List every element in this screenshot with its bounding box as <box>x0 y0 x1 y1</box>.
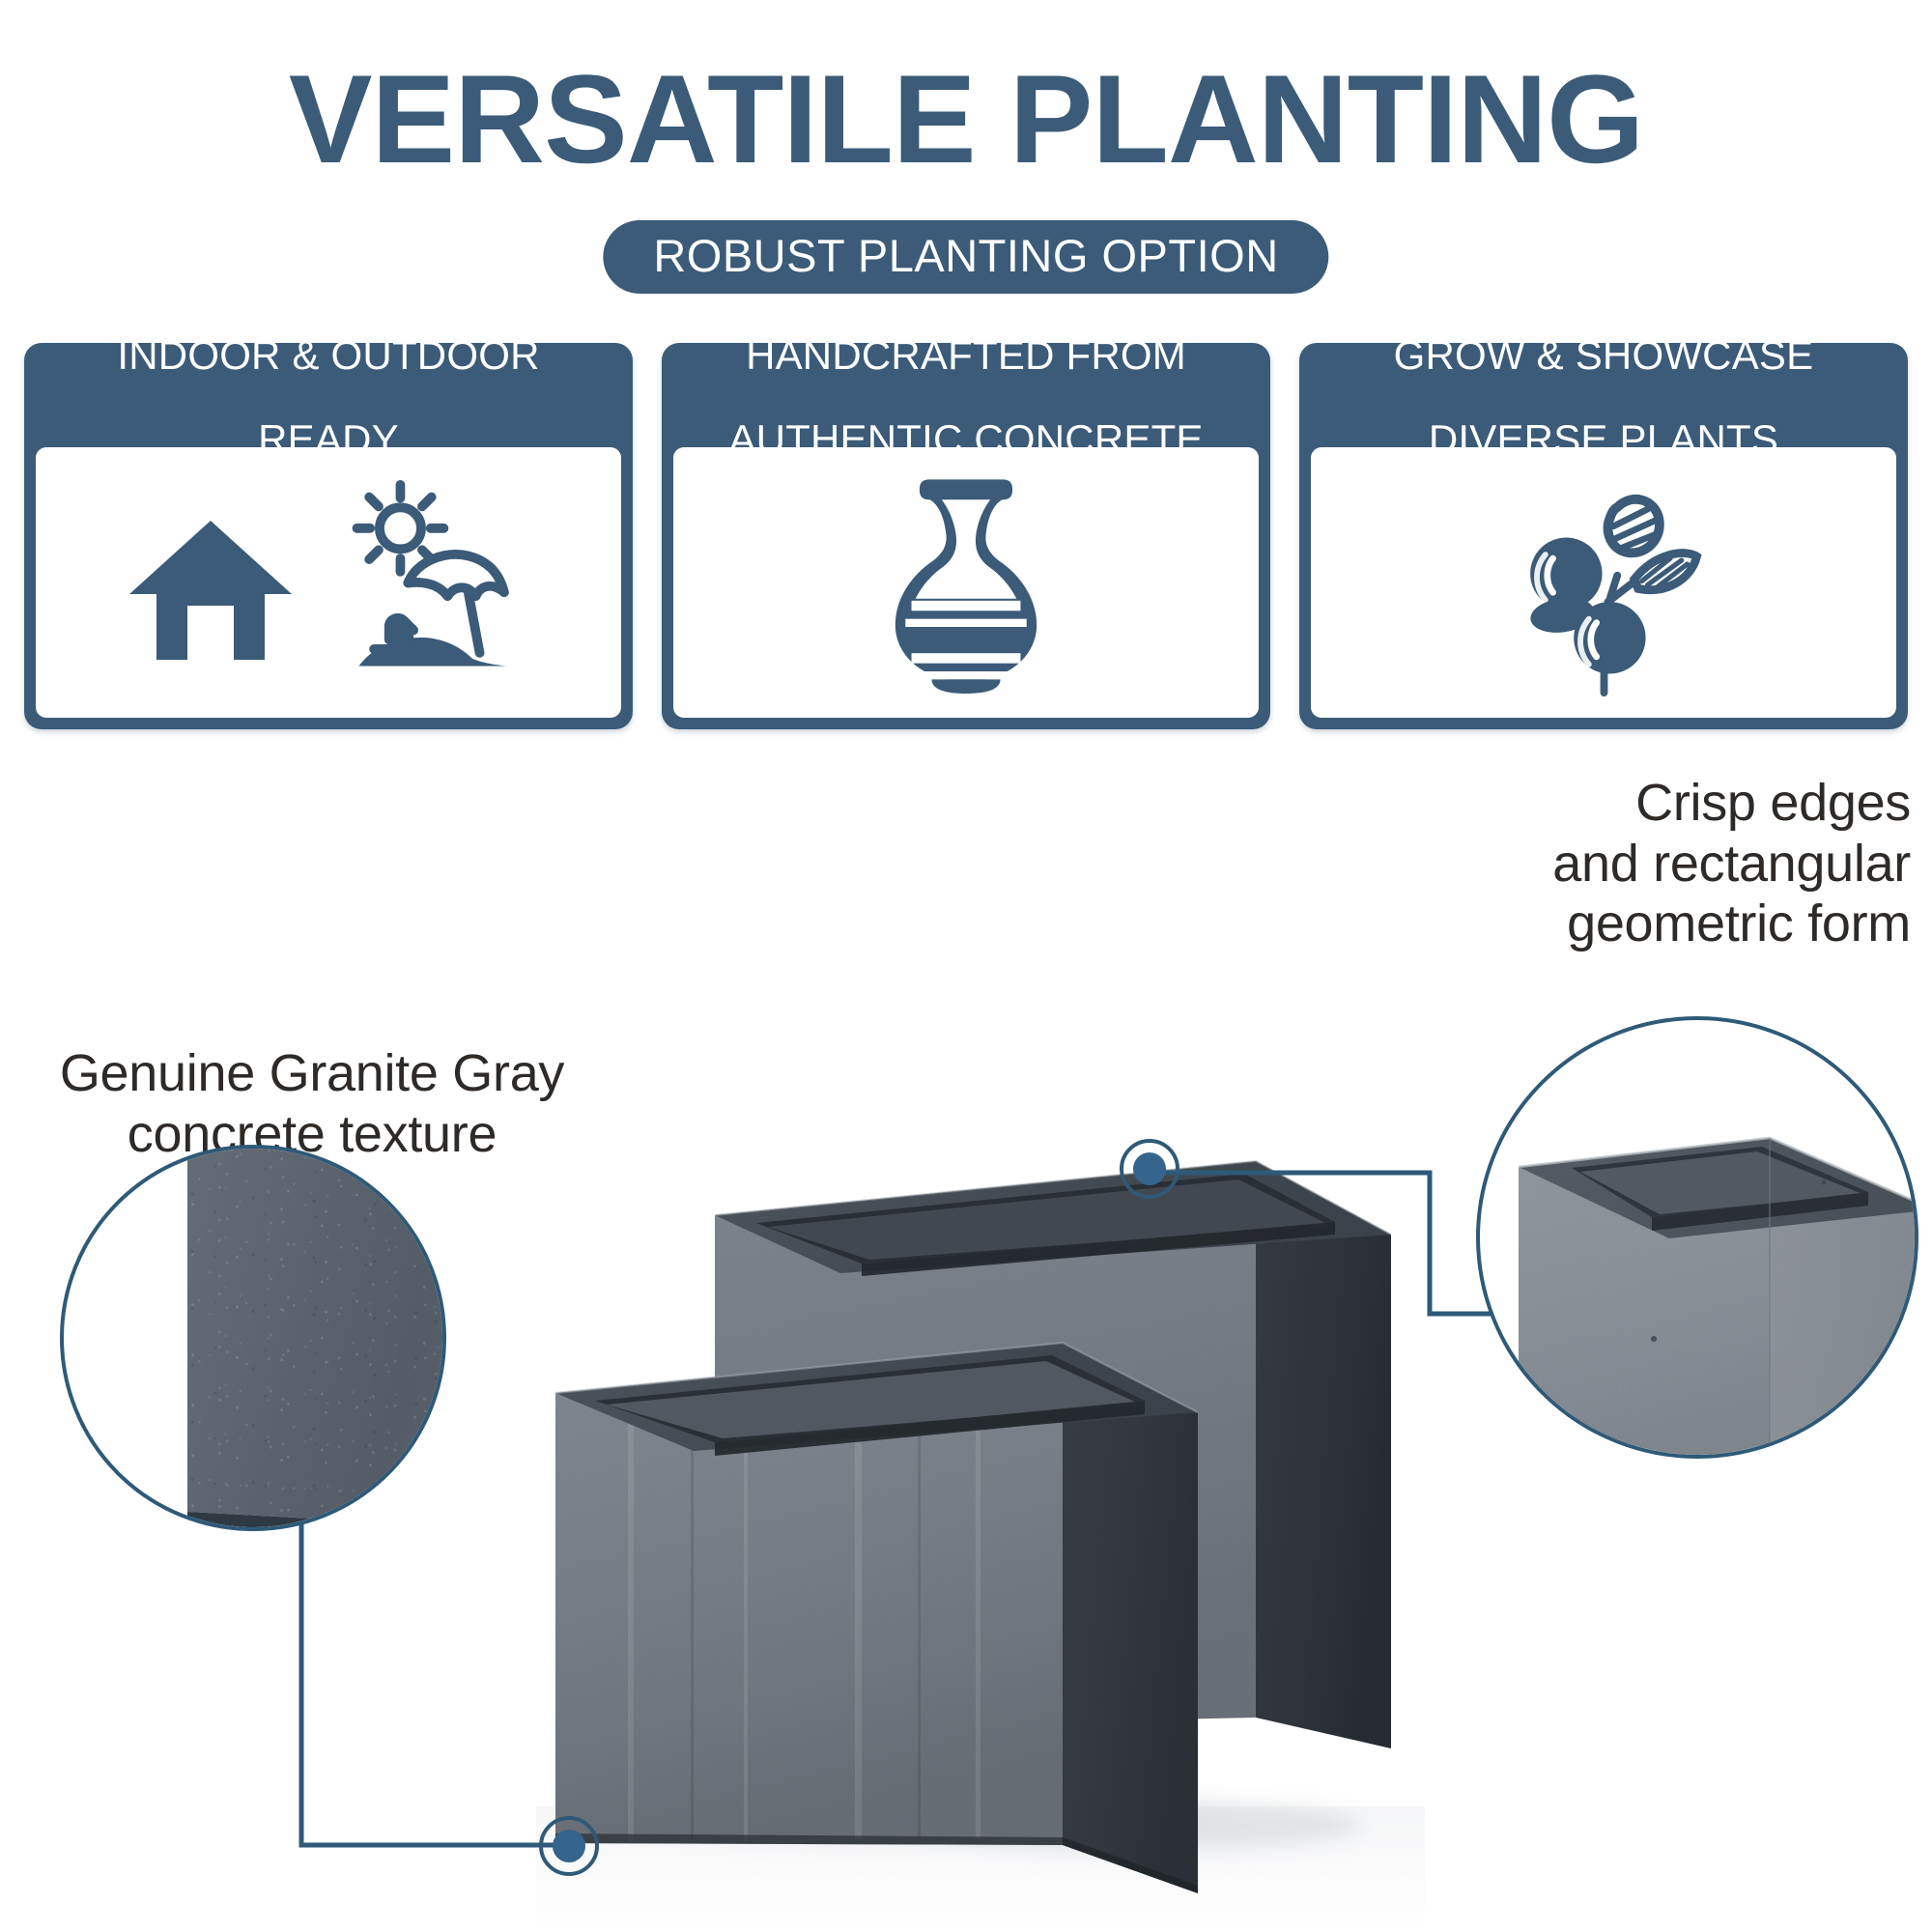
beach-umbrella-icon <box>336 479 544 687</box>
callout-granite-texture-text: Genuine Granite Gray concrete texture <box>17 1043 607 1164</box>
callout-line-2: and rectangular <box>1370 834 1911 895</box>
feature-card-icon-area <box>1311 447 1896 718</box>
feature-card-icon-area <box>36 447 621 718</box>
infographic-canvas: VERSATILE PLANTING ROBUST PLANTING OPTIO… <box>0 0 1932 1932</box>
callout-dot-crisp-edges[interactable] <box>1133 1152 1166 1185</box>
vase-icon <box>855 471 1077 694</box>
subtitle-badge: ROBUST PLANTING OPTION <box>603 220 1328 294</box>
feature-card-header: HANDCRAFTED FROM AUTHENTIC CONCRETE <box>662 343 1270 447</box>
planter-corner-detail <box>1480 1020 1918 1459</box>
callout-crisp-edges-text: Crisp edges and rectangular geometric fo… <box>1370 773 1911 954</box>
feature-card-authentic-concrete: HANDCRAFTED FROM AUTHENTIC CONCRETE <box>662 343 1270 729</box>
callout-line-1: Crisp edges <box>1370 773 1911 834</box>
feature-card-title-line1: GROW & SHOWCASE <box>1394 334 1814 377</box>
feature-card-header: INDOOR & OUTDOOR READY <box>24 343 633 447</box>
feature-card-row: INDOOR & OUTDOOR READY <box>24 343 1908 729</box>
zoom-bubble-concrete-texture <box>60 1145 446 1531</box>
callout-dot-granite-texture[interactable] <box>553 1830 585 1862</box>
planter-front <box>555 1343 1198 1893</box>
callout-line-1: Genuine Granite Gray <box>17 1043 607 1104</box>
page-title: VERSATILE PLANTING <box>0 56 1932 182</box>
feature-card-diverse-plants: GROW & SHOWCASE DIVERSE PLANTS <box>1299 343 1908 729</box>
callout-line-3: geometric form <box>1370 894 1911 954</box>
feature-card-title-line1: INDOOR & OUTDOOR <box>117 334 539 377</box>
feature-card-header: GROW & SHOWCASE DIVERSE PLANTS <box>1299 343 1908 447</box>
concrete-texture-slab <box>187 1145 446 1531</box>
feature-card-icon-area <box>673 447 1259 718</box>
feature-card-indoor-outdoor: INDOOR & OUTDOOR READY <box>24 343 633 729</box>
feature-card-title-line1: HANDCRAFTED FROM <box>728 334 1203 377</box>
zoom-bubble-planter-corner <box>1476 1016 1918 1459</box>
berry-branch-icon <box>1491 469 1718 696</box>
house-icon <box>114 486 307 679</box>
